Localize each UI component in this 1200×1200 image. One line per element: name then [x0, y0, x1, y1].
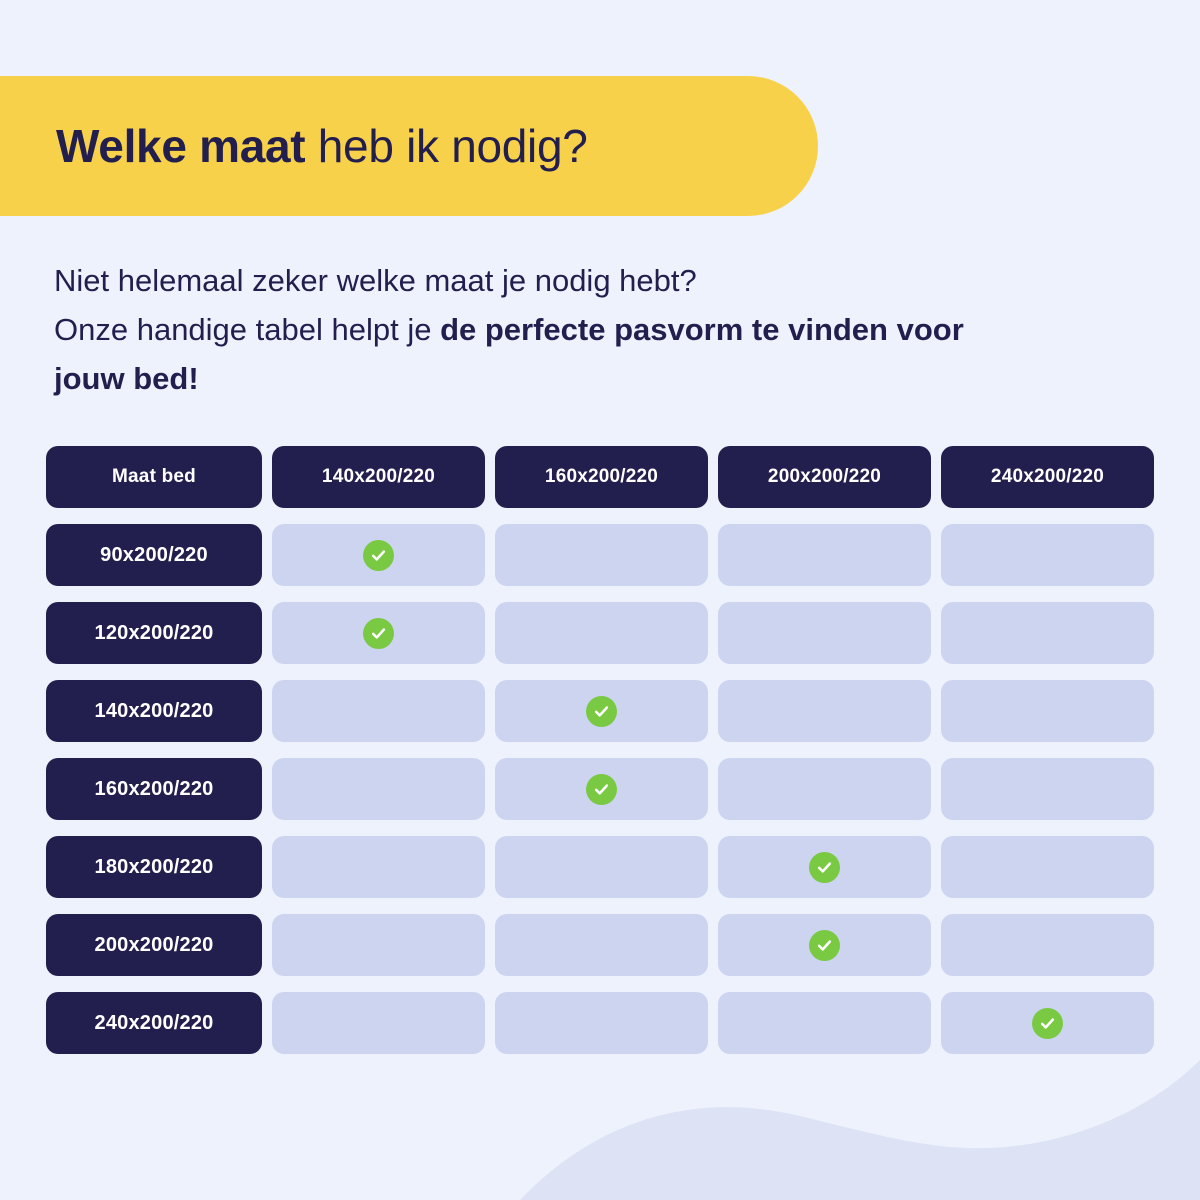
table-cell — [272, 758, 485, 820]
table-cell — [495, 602, 708, 664]
page-title-strong: Welke maat — [56, 120, 305, 172]
check-circle-icon — [1032, 1008, 1063, 1039]
row-label: 120x200/220 — [46, 602, 262, 664]
check-circle-icon — [363, 618, 394, 649]
table-row: 160x200/220 — [46, 758, 1154, 820]
row-label: 140x200/220 — [46, 680, 262, 742]
table-cell — [718, 602, 931, 664]
table-row: 90x200/220 — [46, 524, 1154, 586]
check-circle-icon — [586, 696, 617, 727]
check-circle-icon — [586, 774, 617, 805]
table-cell — [718, 914, 931, 976]
table-row: 140x200/220 — [46, 680, 1154, 742]
row-label: 180x200/220 — [46, 836, 262, 898]
intro-line-1: Niet helemaal zeker welke maat je nodig … — [54, 263, 697, 298]
table-row: 120x200/220 — [46, 602, 1154, 664]
table-cell — [495, 524, 708, 586]
row-label: 160x200/220 — [46, 758, 262, 820]
table-row: 240x200/220 — [46, 992, 1154, 1054]
intro-paragraph: Niet helemaal zeker welke maat je nodig … — [54, 256, 1034, 403]
table-row: 200x200/220 — [46, 914, 1154, 976]
table-header-col-2: 160x200/220 — [495, 446, 708, 508]
table-cell — [272, 992, 485, 1054]
header-banner: Welke maat heb ik nodig? — [0, 76, 818, 216]
table-cell — [495, 992, 708, 1054]
table-cell — [272, 836, 485, 898]
table-cell — [272, 602, 485, 664]
table-cell — [495, 680, 708, 742]
table-header-col-4: 240x200/220 — [941, 446, 1154, 508]
table-cell — [272, 524, 485, 586]
table-header-row: Maat bed 140x200/220 160x200/220 200x200… — [46, 446, 1154, 508]
page-title-light: heb ik nodig? — [305, 120, 587, 172]
table-cell — [718, 524, 931, 586]
table-cell — [495, 914, 708, 976]
table-header-col-3: 200x200/220 — [718, 446, 931, 508]
table-cell — [941, 602, 1154, 664]
table-header-maat-bed: Maat bed — [46, 446, 262, 508]
table-cell — [941, 836, 1154, 898]
table-cell — [718, 680, 931, 742]
table-cell — [495, 836, 708, 898]
table-cell — [495, 758, 708, 820]
table-cell — [941, 914, 1154, 976]
row-label: 90x200/220 — [46, 524, 262, 586]
row-label: 240x200/220 — [46, 992, 262, 1054]
check-circle-icon — [363, 540, 394, 571]
table-cell — [941, 992, 1154, 1054]
check-circle-icon — [809, 852, 840, 883]
check-circle-icon — [809, 930, 840, 961]
intro-line-2-normal: Onze handige tabel helpt je — [54, 312, 440, 347]
table-cell — [718, 836, 931, 898]
size-comparison-table: Maat bed 140x200/220 160x200/220 200x200… — [46, 446, 1154, 1054]
table-row: 180x200/220 — [46, 836, 1154, 898]
table-cell — [718, 992, 931, 1054]
table-cell — [718, 758, 931, 820]
table-cell — [941, 524, 1154, 586]
table-cell — [272, 680, 485, 742]
row-label: 200x200/220 — [46, 914, 262, 976]
table-header-col-1: 140x200/220 — [272, 446, 485, 508]
table-cell — [941, 758, 1154, 820]
table-cell — [941, 680, 1154, 742]
page-title: Welke maat heb ik nodig? — [56, 123, 588, 169]
table-cell — [272, 914, 485, 976]
